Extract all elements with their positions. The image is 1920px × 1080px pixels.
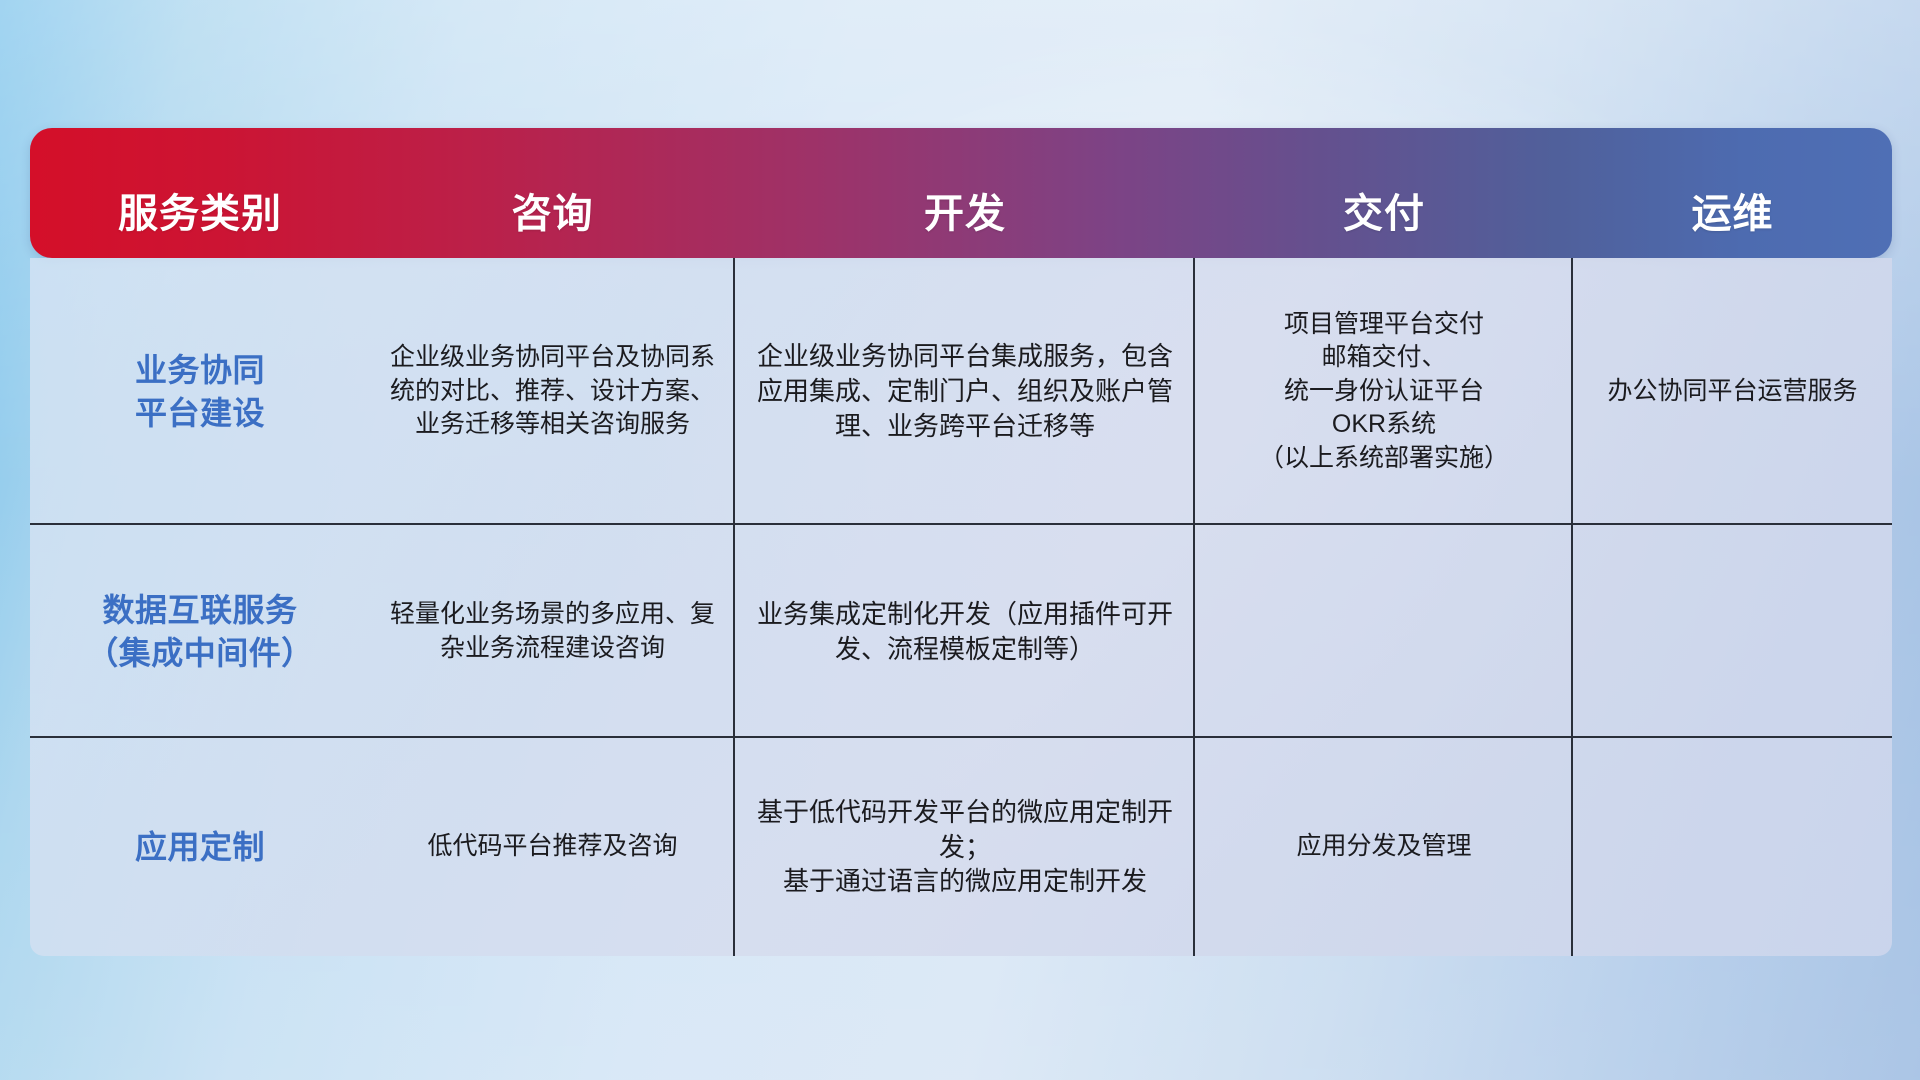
cell-delivery: 项目管理平台交付 邮箱交付、 统一身份认证平台 OKR系统 （以上系统部署实施） xyxy=(1195,258,1573,525)
column-header-development: 开发 xyxy=(735,194,1195,258)
row-label-cell: 应用定制 xyxy=(30,738,370,956)
cell-delivery: 应用分发及管理 xyxy=(1195,738,1573,956)
cell-text: 企业级业务协同平台集成服务，包含应用集成、定制门户、组织及账户管理、业务跨平台迁… xyxy=(735,339,1195,443)
cell-text: 业务集成定制化开发（应用插件可开发、流程模板定制等） xyxy=(735,597,1195,667)
cell-consulting: 企业级业务协同平台及协同系统的对比、推荐、设计方案、业务迁移等相关咨询服务 xyxy=(370,258,735,525)
column-header-consulting: 咨询 xyxy=(370,194,735,258)
cell-consulting: 低代码平台推荐及咨询 xyxy=(370,738,735,956)
cell-text: 项目管理平台交付 邮箱交付、 统一身份认证平台 OKR系统 （以上系统部署实施） xyxy=(1243,308,1525,476)
row-label-cell: 数据互联服务 （集成中间件） xyxy=(30,525,370,738)
cell-text: 应用分发及管理 xyxy=(1280,830,1487,864)
cell-text: 低代码平台推荐及咨询 xyxy=(411,830,693,864)
row-label-text: 数据互联服务 （集成中间件） xyxy=(86,589,314,673)
cell-text: 轻量化业务场景的多应用、复杂业务流程建设咨询 xyxy=(370,598,735,665)
cell-operations xyxy=(1573,525,1892,738)
table-row: 数据互联服务 （集成中间件） 轻量化业务场景的多应用、复杂业务流程建设咨询 业务… xyxy=(30,525,1892,738)
column-header-service-category: 服务类别 xyxy=(30,194,370,258)
row-label-cell: 业务协同 平台建设 xyxy=(30,258,370,525)
row-label-text: 应用定制 xyxy=(135,826,265,868)
column-header-operations: 运维 xyxy=(1573,194,1892,258)
cell-text: 基于低代码开发平台的微应用定制开发； 基于通过语言的微应用定制开发 xyxy=(735,795,1195,899)
row-label-text: 业务协同 平台建设 xyxy=(135,349,265,433)
cell-consulting: 轻量化业务场景的多应用、复杂业务流程建设咨询 xyxy=(370,525,735,738)
cell-development: 基于低代码开发平台的微应用定制开发； 基于通过语言的微应用定制开发 xyxy=(735,738,1195,956)
cell-development: 业务集成定制化开发（应用插件可开发、流程模板定制等） xyxy=(735,525,1195,738)
column-header-delivery: 交付 xyxy=(1195,194,1573,258)
cell-development: 企业级业务协同平台集成服务，包含应用集成、定制门户、组织及账户管理、业务跨平台迁… xyxy=(735,258,1195,525)
cell-delivery xyxy=(1195,525,1573,738)
table-body: 业务协同 平台建设 企业级业务协同平台及协同系统的对比、推荐、设计方案、业务迁移… xyxy=(30,258,1892,956)
cell-text: 企业级业务协同平台及协同系统的对比、推荐、设计方案、业务迁移等相关咨询服务 xyxy=(370,341,735,442)
service-matrix-table: 服务类别 咨询 开发 交付 运维 业务协同 平台建设 企业级业务协同平台及协同系… xyxy=(30,128,1892,956)
table-row: 业务协同 平台建设 企业级业务协同平台及协同系统的对比、推荐、设计方案、业务迁移… xyxy=(30,258,1892,525)
table-header-row: 服务类别 咨询 开发 交付 运维 xyxy=(30,128,1892,258)
slide-canvas: 服务类别 咨询 开发 交付 运维 业务协同 平台建设 企业级业务协同平台及协同系… xyxy=(0,0,1920,1080)
cell-operations xyxy=(1573,738,1892,956)
cell-operations: 办公协同平台运营服务 xyxy=(1573,258,1892,525)
table-row: 应用定制 低代码平台推荐及咨询 基于低代码开发平台的微应用定制开发； 基于通过语… xyxy=(30,738,1892,956)
cell-text: 办公协同平台运营服务 xyxy=(1591,375,1873,409)
